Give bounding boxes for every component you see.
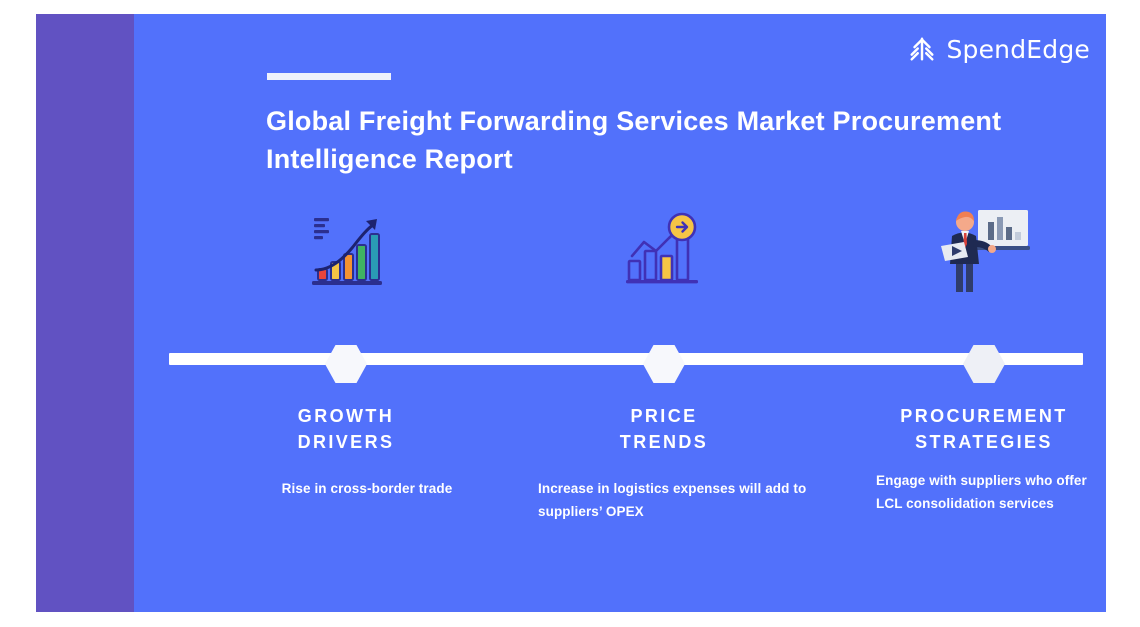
timeline-node-price-trends[interactable] xyxy=(539,198,789,294)
timeline-node-growth-drivers[interactable] xyxy=(221,198,471,294)
node-title-line1: GROWTH xyxy=(196,404,496,430)
node-description-procurement-strategies: Engage with suppliers who offer LCL cons… xyxy=(876,469,1094,515)
brand-name: SpendEdge xyxy=(946,35,1090,64)
slide-canvas: SpendEdge Global Freight Forwarding Serv… xyxy=(0,0,1140,627)
node-description-growth-drivers: Rise in cross-border trade xyxy=(242,477,492,500)
node-title-line1: PRICE xyxy=(514,404,814,430)
page-title: Global Freight Forwarding Services Marke… xyxy=(266,102,1046,179)
node-title-growth-drivers: GROWTH DRIVERS xyxy=(196,404,496,455)
hexagon-marker-growth-drivers[interactable] xyxy=(325,345,367,383)
growth-bar-chart-arrow-icon xyxy=(221,198,471,294)
node-title-price-trends: PRICE TRENDS xyxy=(514,404,814,455)
spendedge-chevron-logo-icon xyxy=(907,34,937,64)
node-title-line2: DRIVERS xyxy=(196,430,496,456)
slide-content: SpendEdge Global Freight Forwarding Serv… xyxy=(134,14,1106,612)
node-description-price-trends: Increase in logistics expenses will add … xyxy=(538,477,828,523)
timeline-bar xyxy=(169,353,1083,365)
left-accent-strip xyxy=(36,14,134,612)
node-title-procurement-strategies: PROCUREMENT STRATEGIES xyxy=(834,404,1106,455)
hexagon-marker-price-trends[interactable] xyxy=(643,345,685,383)
businessman-presentation-board-icon xyxy=(859,198,1106,294)
node-title-line1: PROCUREMENT xyxy=(834,404,1106,430)
timeline-node-procurement-strategies[interactable] xyxy=(859,198,1106,294)
node-title-line2: STRATEGIES xyxy=(834,430,1106,456)
brand-logo: SpendEdge xyxy=(907,34,1090,64)
price-trend-chart-coin-icon xyxy=(539,198,789,294)
hexagon-marker-procurement-strategies[interactable] xyxy=(963,345,1005,383)
title-accent-dash xyxy=(267,73,391,80)
node-title-line2: TRENDS xyxy=(514,430,814,456)
slide: SpendEdge Global Freight Forwarding Serv… xyxy=(36,14,1106,612)
